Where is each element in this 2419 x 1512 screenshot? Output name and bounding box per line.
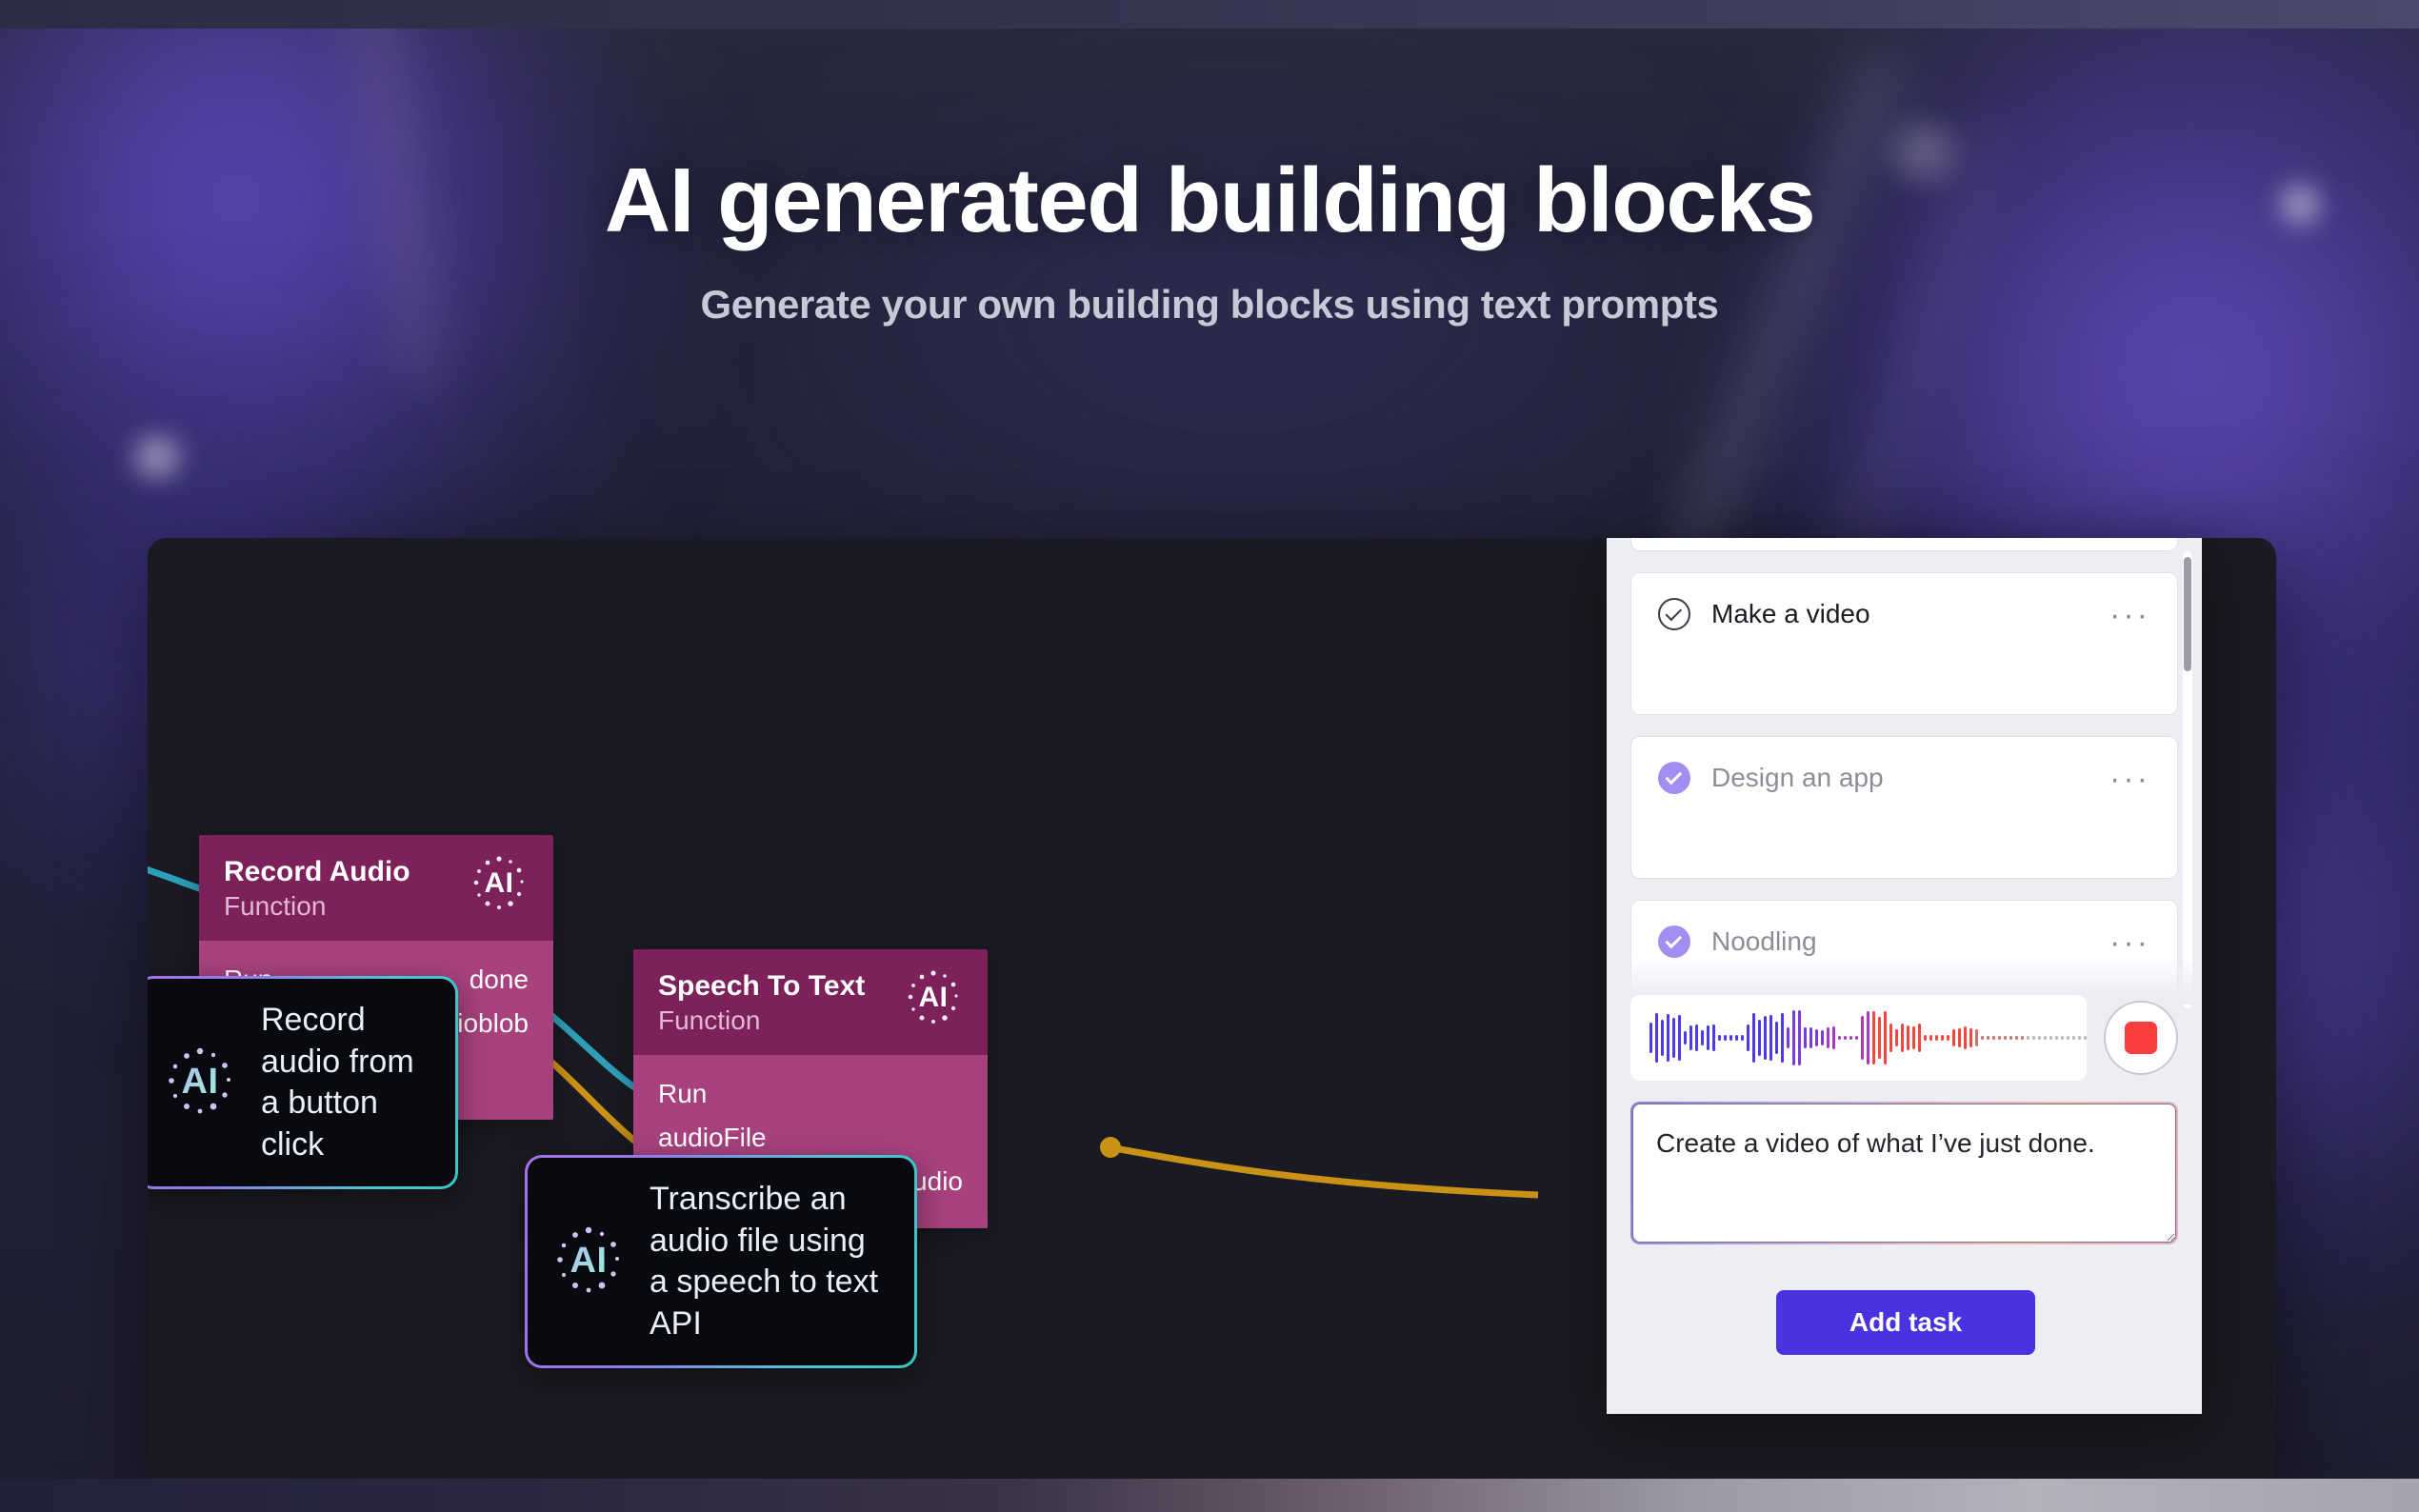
- task-menu-icon[interactable]: ···: [2109, 606, 2150, 625]
- ai-sparkle-icon: AI: [552, 1224, 625, 1297]
- audio-waveform: [1630, 995, 2087, 1081]
- node-header: Speech To Text Function: [633, 949, 988, 1055]
- page-root: AI generated building blocks Generate yo…: [0, 0, 2419, 1512]
- task-menu-icon[interactable]: ···: [2109, 933, 2150, 952]
- node-title: Record Audio: [224, 856, 410, 888]
- audio-recorder[interactable]: [1630, 995, 2178, 1081]
- node-header: Record Audio Function AI: [199, 835, 553, 941]
- port-row-run[interactable]: Run: [658, 1072, 963, 1116]
- stop-recording-button[interactable]: [2104, 1001, 2178, 1075]
- task-label: Noodling: [1711, 926, 1817, 957]
- prompt-input-wrapper[interactable]: [1630, 1102, 2178, 1244]
- port-row-audiofile[interactable]: audioFile: [658, 1116, 963, 1160]
- task-card[interactable]: Make a video ···: [1630, 572, 2178, 715]
- bottom-band: [0, 1479, 2419, 1512]
- hero-section: AI generated building blocks Generate yo…: [0, 152, 2419, 328]
- task-menu-icon[interactable]: ···: [2109, 769, 2150, 788]
- task-list-scrollbar-thumb[interactable]: [2184, 557, 2191, 671]
- ai-badge-label: AI: [164, 1045, 236, 1118]
- task-card-partial[interactable]: [1630, 538, 2178, 551]
- task-app-panel[interactable]: Make a video ··· Design an app ··· Noodl…: [1607, 538, 2202, 1414]
- task-label: Make a video: [1711, 599, 1870, 629]
- top-band: [0, 0, 2419, 29]
- task-card[interactable]: Design an app ···: [1630, 736, 2178, 879]
- ai-sparkle-icon: AI: [164, 1045, 236, 1118]
- node-subtitle: Function: [224, 890, 410, 923]
- checkbox-checked-icon[interactable]: [1658, 925, 1690, 958]
- sparkle-dot: [114, 428, 200, 486]
- ai-badge-label: AI: [552, 1224, 625, 1297]
- prompt-bubble-text: Transcribe an audio file using a speech …: [650, 1179, 882, 1344]
- stop-square-icon: [2125, 1022, 2157, 1054]
- checkbox-unchecked-icon[interactable]: [1658, 598, 1690, 630]
- port-label-run: Run: [658, 1079, 707, 1109]
- waveform-bars: [1649, 1010, 2087, 1065]
- port-label-audiofile: audioFile: [658, 1123, 767, 1153]
- port-dot-transcribedaudio[interactable]: [1100, 1137, 1121, 1158]
- page-title: AI generated building blocks: [0, 152, 2419, 249]
- ai-badge-label: AI: [470, 854, 529, 913]
- add-task-button[interactable]: Add task: [1776, 1290, 2035, 1355]
- prompt-bubble-record-audio[interactable]: AI Record audio from a button click: [148, 976, 458, 1189]
- node-subtitle: Function: [658, 1005, 865, 1037]
- prompt-textarea[interactable]: [1632, 1104, 2176, 1243]
- node-title: Speech To Text: [658, 970, 865, 1003]
- ai-sparkle-icon: AI: [904, 968, 963, 1027]
- ai-sparkle-icon: AI: [470, 854, 529, 913]
- task-label: Design an app: [1711, 763, 1884, 793]
- checkbox-checked-icon[interactable]: [1658, 762, 1690, 794]
- prompt-bubble-text: Record audio from a button click: [261, 1000, 423, 1165]
- port-label-done: done: [470, 965, 529, 995]
- prompt-bubble-speech-to-text[interactable]: AI Transcribe an audio file using a spee…: [525, 1155, 917, 1368]
- ai-badge-label: AI: [904, 968, 963, 1027]
- task-list[interactable]: Make a video ··· Design an app ··· Noodl…: [1607, 538, 2202, 1000]
- page-subtitle: Generate your own building blocks using …: [0, 282, 2419, 328]
